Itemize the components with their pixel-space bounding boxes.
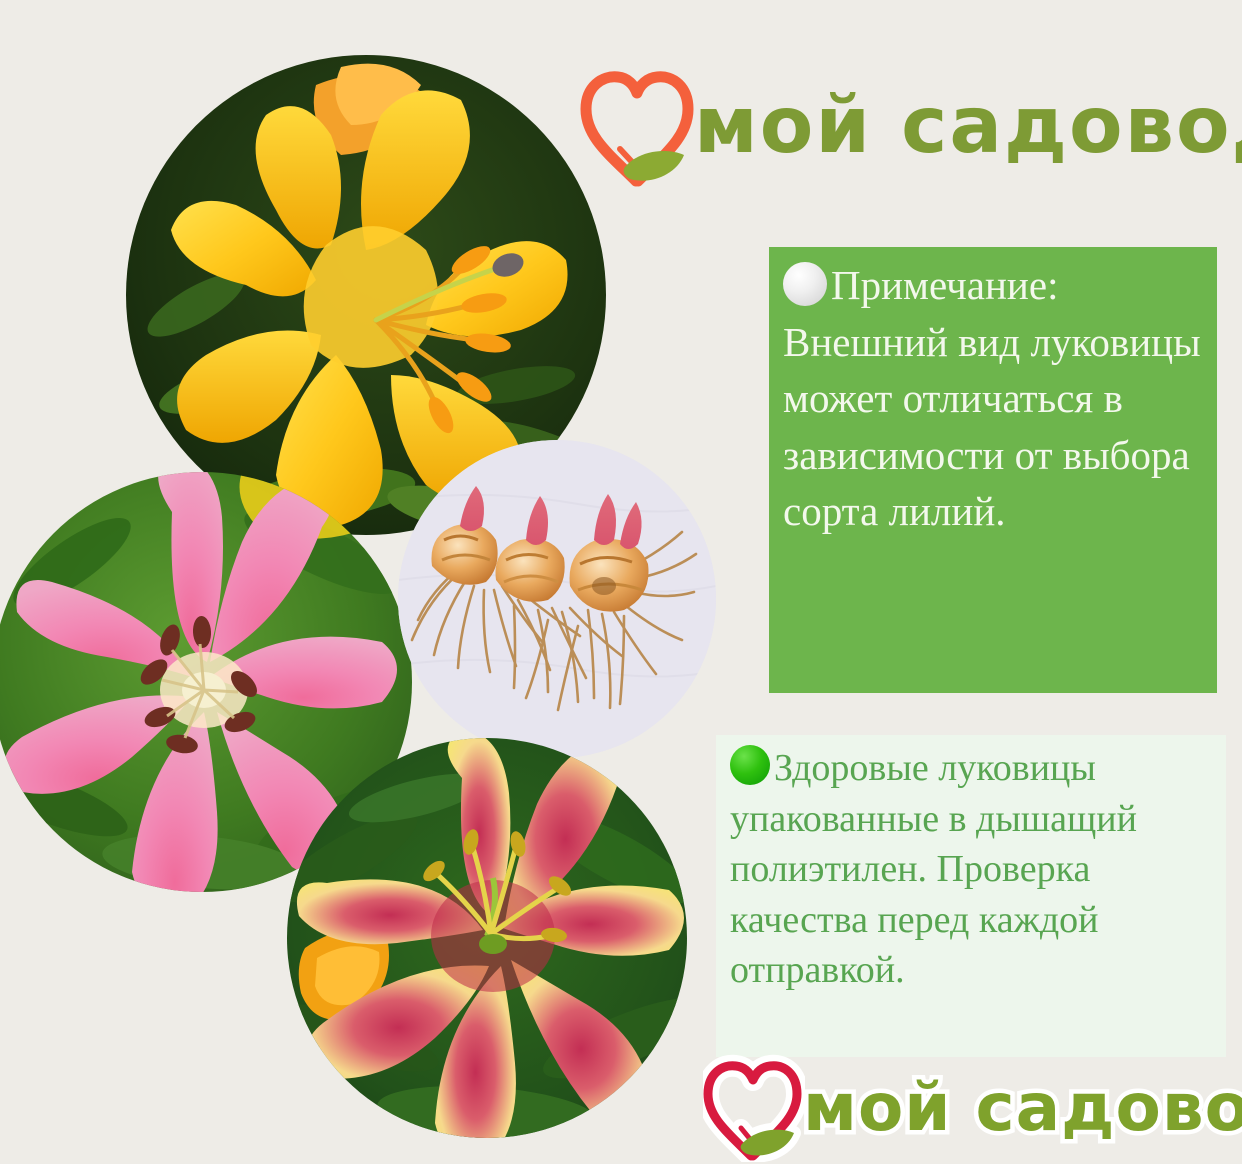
healthy-text: Здоровые луковицы упакованные в дышащий …	[730, 743, 1214, 996]
green-circle-bullet-icon	[730, 745, 770, 785]
poster-canvas: мой садовод Примечание: Внешний вид луко…	[0, 0, 1242, 1164]
note-heading: Примечание:	[831, 262, 1058, 308]
logo-bottom-wordmark: мой садовод	[803, 1075, 1242, 1141]
heart-leaf-logo-icon	[580, 63, 698, 188]
photo-lily-bulbs	[398, 440, 716, 758]
photo-red-yellow-lily	[287, 738, 687, 1138]
note-text: Примечание: Внешний вид луковицы может о…	[783, 257, 1203, 540]
logo-top-wordmark: мой садовод	[694, 87, 1242, 165]
healthy-bulbs-callout-box: Здоровые луковицы упакованные в дышащий …	[716, 735, 1226, 1057]
note-callout-box: Примечание: Внешний вид луковицы может о…	[769, 247, 1217, 693]
note-body: Внешний вид луковицы может отличаться в …	[783, 319, 1201, 535]
healthy-body: Здоровые луковицы упакованные в дышащий …	[730, 747, 1137, 991]
grey-circle-bullet-icon	[783, 262, 827, 306]
logo-bottom-watermark: мой садовод	[703, 1052, 1233, 1164]
logo-top: мой садовод	[580, 58, 1230, 193]
heart-leaf-logo-icon-bottom	[703, 1054, 805, 1162]
